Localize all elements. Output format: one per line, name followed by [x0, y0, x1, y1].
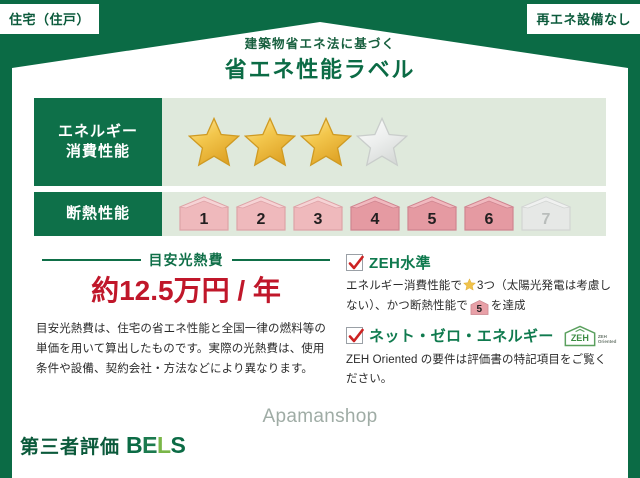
utility-cost-amount: 約12.5万円 / 年: [36, 276, 336, 307]
zeh-oriented-logo: ZEH ZEH Oriented: [563, 325, 617, 347]
zeh-logo-sub2: Oriented: [598, 339, 617, 344]
zeh-logo-subtext: ZEH Oriented: [598, 334, 617, 346]
energy-label-line1: エネルギー: [58, 122, 138, 142]
star-icon-inline: [463, 278, 476, 291]
bels-letter-b: B: [126, 432, 142, 458]
house-icon-empty: 7: [520, 196, 572, 232]
insulation-performance-row: 断熱性能 1234567: [34, 192, 606, 236]
net-zero-body: ZEH Oriented の要件は評価書の特記項目をご覧ください。: [346, 351, 616, 391]
zeh-logo-text: ZEH: [563, 333, 597, 343]
zeh-body-part3: を達成: [491, 300, 526, 312]
insulation-level-value: 6: [485, 211, 494, 229]
insulation-performance-label: 断熱性能: [34, 192, 162, 236]
energy-label-line2: 消費性能: [66, 142, 130, 162]
utility-cost-heading-text: 目安光熱費: [149, 250, 224, 270]
bels-logo-jp: 第三者評価: [20, 432, 120, 459]
evaluation-date: 評価日 2025年12月8日: [486, 428, 628, 448]
header-subtitle: 建築物省エネ法に基づく: [0, 38, 640, 52]
net-zero-label: ネット・ゼロ・エネルギー: [369, 325, 554, 346]
insulation-level-value: 3: [314, 211, 323, 229]
badge-renewable-equipment: 再エネ設備なし: [527, 4, 640, 34]
star-icon-filled: [300, 116, 352, 168]
zeh-standard-body: エネルギー消費性能で 3つ（太陽光発電は考慮しない）、かつ断熱性能で 5 を達成: [346, 277, 616, 317]
rule-left: [42, 259, 141, 261]
energy-performance-label: エネルギー 消費性能: [34, 98, 162, 186]
insulation-level-value: 2: [257, 211, 266, 229]
zeh-standard-title: ZEH水準: [346, 252, 616, 273]
net-zero-title: ネット・ゼロ・エネルギー ZEH ZEH O: [346, 325, 616, 347]
rule-right: [232, 259, 331, 261]
lower-section: 目安光熱費 約12.5万円 / 年 目安光熱費は、住宅の省エネ性能と全国一律の燃…: [36, 250, 604, 392]
star-icon-empty: [356, 116, 408, 168]
star-icon-filled: [188, 116, 240, 168]
utility-cost-note: 目安光熱費は、住宅の省エネ性能と全国一律の燃料等の単価を用いて算出したものです。…: [36, 319, 336, 379]
label-card: エネルギー 消費性能 断熱性能 1234567 目安光熱費 約12.5万円 / …: [22, 88, 618, 418]
energy-performance-row: エネルギー 消費性能: [34, 98, 606, 186]
star-icon-filled: [244, 116, 296, 168]
checkmark-icon: [346, 327, 363, 344]
house-icon-filled: 1: [178, 196, 230, 232]
net-zero-energy-item: ネット・ゼロ・エネルギー ZEH ZEH O: [346, 325, 616, 391]
evaluation-info: 評価日 2025年12月8日 ef93c3ee-2aa9-4a1a: [486, 428, 628, 460]
zeh-body-part1: エネルギー消費性能で: [346, 280, 462, 292]
zeh-inline-level: 5: [477, 304, 483, 315]
zeh-standard-item: ZEH水準 エネルギー消費性能で 3つ（太陽光発電は考慮しない）、かつ断熱性能で…: [346, 252, 616, 317]
house-icon-filled: 2: [235, 196, 287, 232]
house-icon-inline: 5: [470, 300, 489, 315]
insulation-level-value: 7: [542, 211, 551, 229]
footer: 第三者評価 BELS COLORS WING-B 101 評価日 2025年12…: [0, 422, 640, 478]
energy-star-rating: [162, 98, 606, 186]
checkmark-icon: [346, 254, 363, 271]
header: 建築物省エネ法に基づく 省エネ性能ラベル: [0, 38, 640, 82]
insulation-scale: 1234567: [162, 192, 606, 236]
utility-cost-heading: 目安光熱費: [36, 250, 336, 270]
evaluation-id: ef93c3ee-2aa9-4a1a: [486, 450, 628, 460]
insulation-level-value: 5: [428, 211, 437, 229]
insulation-level-value: 4: [371, 211, 380, 229]
bels-letter-l: L: [157, 432, 171, 458]
bels-letter-s: S: [171, 432, 186, 458]
bels-logo: 第三者評価 BELS: [12, 428, 193, 464]
zeh-standard-label: ZEH水準: [369, 252, 431, 273]
house-icon-filled: 5: [406, 196, 458, 232]
bels-letter-e: E: [142, 432, 157, 458]
bels-logo-text: BELS: [126, 432, 185, 459]
property-name: COLORS WING-B 101: [214, 436, 376, 456]
insulation-level-value: 1: [200, 211, 209, 229]
badge-building-type: 住宅（住戸）: [0, 4, 99, 34]
header-title: 省エネ性能ラベル: [0, 57, 640, 82]
house-icon-filled: 6: [463, 196, 515, 232]
zeh-column: ZEH水準 エネルギー消費性能で 3つ（太陽光発電は考慮しない）、かつ断熱性能で…: [346, 250, 616, 392]
utility-cost-column: 目安光熱費 約12.5万円 / 年 目安光熱費は、住宅の省エネ性能と全国一律の燃…: [36, 250, 336, 392]
energy-label-root: 住宅（住戸） 再エネ設備なし 建築物省エネ法に基づく 省エネ性能ラベル エネルギ…: [0, 0, 640, 478]
house-icon-filled: 3: [292, 196, 344, 232]
house-icon-filled: 4: [349, 196, 401, 232]
